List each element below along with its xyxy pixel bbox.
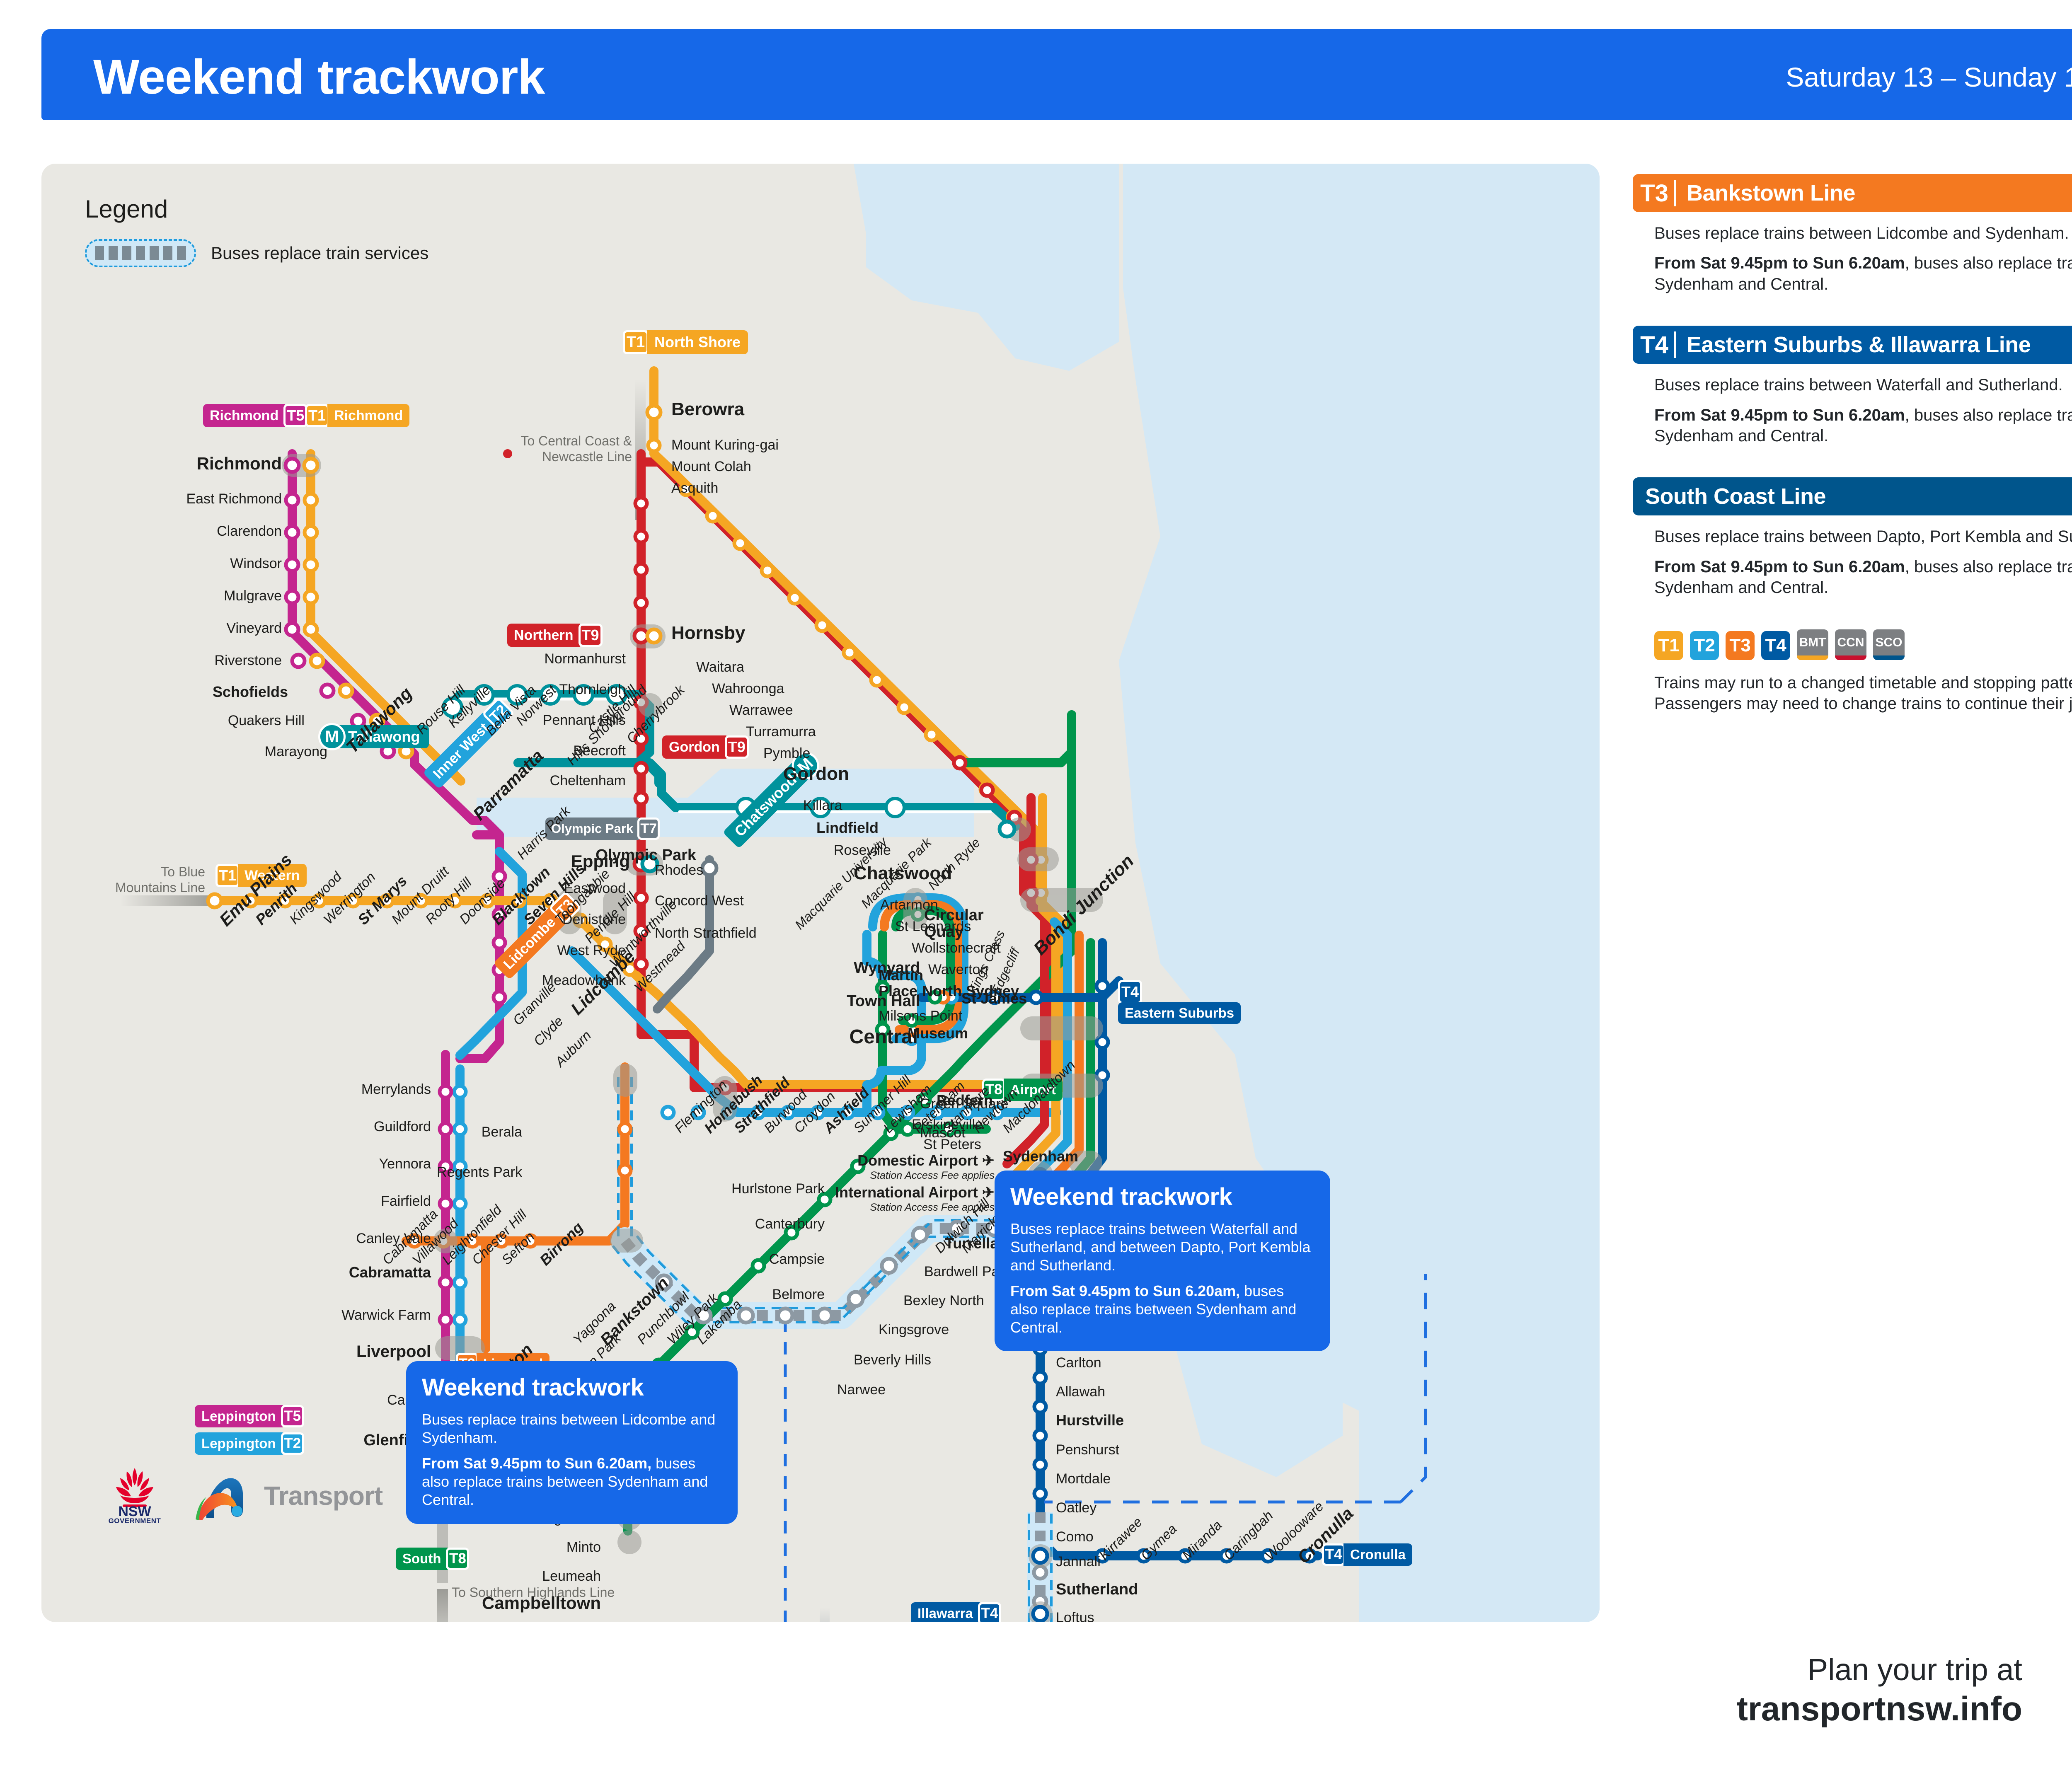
affected-lines-badges: T1 T2 T3 T4 BMT CCN SCO (1654, 629, 2072, 660)
route-label-t5-leppington[interactable]: Leppington T5 (195, 1405, 304, 1427)
station-label-east-richmond: East Richmond (141, 491, 282, 507)
station-label-campbelltown: Campbelltown (332, 1593, 601, 1613)
station-label-berowra: Berowra (671, 399, 744, 420)
legend-title: Legend (85, 195, 428, 223)
station-label-campsie: Campsie (700, 1251, 825, 1267)
badge-t5: T5 (281, 1405, 304, 1427)
badge-sco: SCO (1873, 629, 1905, 660)
annotation-domestic-fee: Station Access Fee applies (821, 1170, 995, 1182)
badge-t3: T3 (1633, 174, 1676, 212)
station-label-wahroonga: Wahroonga (712, 681, 784, 697)
station-label-warrawee: Warrawee (729, 702, 793, 718)
callout-para-2: From Sat 9.45pm to Sun 6.20am, buses als… (422, 1454, 722, 1509)
line-para-2: From Sat 9.45pm to Sun 6.20am, buses als… (1654, 253, 2072, 295)
legend: Legend Buses replace train services (85, 195, 428, 267)
station-label-martin-place: Martin Place (879, 967, 941, 999)
page-header: Weekend trackwork Saturday 13 – Sunday 1… (41, 29, 2072, 120)
badge-ccn: CCN (1835, 629, 1866, 660)
station-label-pymble: Pymble (763, 745, 810, 762)
badge-t9: T9 (725, 735, 749, 759)
station-label-hornsby: Hornsby (671, 623, 745, 643)
annotation-to-central-coast: To Central Coast & Newcastle Line (495, 433, 632, 465)
station-label-international-airport: International Airport ✈ (800, 1184, 995, 1201)
route-label-t9-northern[interactable]: Northern T9 (507, 624, 603, 647)
line-header-south-coast: South Coast Line (1633, 477, 2072, 515)
station-label-west-ryde: West Ryde (489, 943, 626, 959)
badge-t1: T1 (215, 864, 240, 887)
station-label-como: Como (1056, 1529, 1094, 1545)
badge-t1: T1 (1654, 631, 1683, 660)
badge-t1: T1 (305, 404, 329, 427)
badge-t2: T2 (1690, 631, 1719, 660)
bus-replacement-swatch (85, 239, 196, 267)
station-label-pennant-hills: Pennant Hills (489, 712, 626, 728)
station-label-asquith: Asquith (671, 480, 718, 496)
station-label-belmore: Belmore (700, 1287, 825, 1303)
station-label-beecroft: Beecroft (489, 743, 626, 759)
station-label-bexley-north: Bexley North (903, 1293, 984, 1309)
line-name: Eastern Suburbs & Illawarra Line (1676, 326, 2072, 364)
badge-t1: T1 (623, 330, 649, 354)
route-label-t1-north-shore[interactable]: T1 North Shore (623, 330, 748, 354)
line-block-south-coast: South Coast Line Buses replace trains be… (1633, 477, 2072, 598)
callout-para-1: Buses replace trains between Waterfall a… (1010, 1220, 1314, 1275)
station-label-central: Central (762, 1025, 918, 1048)
transport-wordmark: Transport (264, 1480, 382, 1511)
logo-group: NSW GOVERNMENT (104, 1465, 382, 1527)
route-label-text: Gordon (662, 735, 726, 759)
line-header-bankstown: T3 Bankstown Line (1633, 174, 2072, 212)
station-label-lindfield: Lindfield (816, 819, 879, 837)
badge-t4: T4 (1118, 980, 1142, 1004)
station-label-marayong: Marayong (141, 744, 327, 760)
badge-t5: T5 (283, 404, 307, 427)
waratah-icon (116, 1468, 153, 1507)
badge-t3: T3 (1726, 631, 1755, 660)
station-label-killara: Killara (803, 798, 842, 814)
station-label-cabramatta: Cabramatta (290, 1264, 431, 1281)
badge-t7: T7 (637, 817, 660, 840)
route-label-text: Richmond (203, 404, 285, 427)
line-para-1: Buses replace trains between Waterfall a… (1654, 375, 2072, 395)
station-label-canterbury: Canterbury (680, 1216, 825, 1232)
callout-para-1: Buses replace trains between Lidcombe an… (422, 1410, 722, 1447)
station-label-mulgrave: Mulgrave (141, 588, 282, 604)
station-label-milsons-point: Milsons Point (879, 1008, 962, 1024)
route-label-text: Cronulla (1343, 1543, 1412, 1566)
route-label-t4-eastern-suburbs[interactable]: T4 Eastern Suburbs (1118, 980, 1241, 1024)
station-label-waitara: Waitara (696, 659, 744, 675)
station-label-loftus: Loftus (1056, 1610, 1094, 1622)
station-label-gymea: Gymea (1138, 1521, 1180, 1563)
station-label-olympic-park: Olympic Park (572, 847, 696, 864)
route-label-t9-gordon[interactable]: Gordon T9 (662, 735, 749, 759)
station-label-quakers-hill: Quakers Hill (141, 713, 305, 729)
station-label-rhodes: Rhodes (655, 862, 703, 878)
station-label-turrella: Turrella (945, 1235, 998, 1252)
route-label-text: Leppington (195, 1432, 283, 1455)
station-label-allawah: Allawah (1056, 1384, 1105, 1400)
route-label-t5-richmond[interactable]: Richmond T5 (203, 404, 307, 427)
station-label-riverstone: Riverstone (141, 653, 282, 669)
station-label-hurstville: Hurstville (1056, 1412, 1124, 1429)
page-title: Weekend trackwork (93, 49, 545, 105)
line-para-1: Buses replace trains between Lidcombe an… (1654, 223, 2072, 244)
station-label-turramurra: Turramurra (746, 724, 816, 740)
legend-bus-label: Buses replace train services (211, 243, 428, 263)
route-label-text: Richmond (327, 404, 409, 427)
station-label-auburn: Auburn (552, 1028, 594, 1070)
station-label-regents-park: Regents Park (390, 1164, 522, 1180)
date-range: Saturday 13 – Sunday 14 July (1786, 61, 2072, 93)
station-label-beverly-hills: Beverly Hills (854, 1352, 931, 1368)
station-label-carlton: Carlton (1056, 1355, 1101, 1371)
station-label-normanhurst: Normanhurst (489, 651, 626, 667)
station-label-oatley: Oatley (1056, 1500, 1097, 1516)
line-header-eastern-suburbs: T4 Eastern Suburbs & Illawarra Line (1633, 326, 2072, 364)
plan-trip-label: Plan your trip at (1737, 1652, 2022, 1687)
annotation-to-blue-mountains: To Blue Mountains Line (102, 864, 205, 896)
callout-title: Weekend trackwork (1010, 1183, 1314, 1211)
station-label-kirrawee: Kirrawee (1096, 1514, 1145, 1563)
line-para-2: From Sat 9.45pm to Sun 6.20am, buses als… (1654, 556, 2072, 598)
route-label-text: North Shore (647, 330, 748, 354)
station-label-mount-colah: Mount Colah (671, 459, 751, 475)
station-label-windsor: Windsor (141, 556, 282, 572)
station-label-chatswood: Chatswood (854, 863, 952, 884)
station-label-kingsgrove: Kingsgrove (879, 1322, 949, 1338)
station-label-schofields: Schofields (141, 683, 288, 701)
station-label-green-square: Green Square (920, 1096, 1009, 1112)
station-label-jannali: Jannali (1056, 1554, 1101, 1570)
station-label-clarendon: Clarendon (141, 523, 282, 539)
badge-t4: T4 (978, 1602, 1001, 1622)
station-label-bondi-junction: Bondi Junction (1030, 851, 1138, 959)
station-label-clyde: Clyde (530, 1013, 566, 1049)
line-para-1: Buses replace trains between Dapto, Port… (1654, 526, 2072, 547)
map-callout-bankstown: Weekend trackwork Buses replace trains b… (406, 1361, 738, 1524)
station-label-museum: Museum (908, 1025, 968, 1042)
station-label-mount-kuring-gai: Mount Kuring-gai (671, 437, 779, 453)
route-label-t4-illawarra[interactable]: Illawarra T4 (911, 1602, 1001, 1622)
badge-t4: T4 (1633, 326, 1676, 364)
station-label-penshurst: Penshurst (1056, 1442, 1119, 1458)
station-label-mascot: Mascot (920, 1125, 966, 1141)
station-label-richmond: Richmond (141, 454, 282, 474)
transport-nsw-logo: Transport (190, 1468, 382, 1524)
network-map[interactable]: Legend Buses replace train services T1 N… (41, 164, 1600, 1622)
trackwork-info-panel: T3 Bankstown Line Buses replace trains b… (1633, 174, 2072, 714)
line-para-2: From Sat 9.45pm to Sun 6.20am, buses als… (1654, 405, 2072, 447)
station-label-macarthur: Macarthur (332, 1620, 601, 1622)
station-label-fairfield: Fairfield (298, 1193, 431, 1209)
station-label-birrong: Birrong (536, 1219, 587, 1269)
transportnsw-url[interactable]: transportnsw.info (1737, 1690, 2022, 1729)
station-label-domestic-airport: Domestic Airport ✈ (821, 1152, 995, 1169)
badge-note-text: Trains may run to a changed timetable an… (1654, 672, 2072, 714)
station-label-warwick-farm: Warwick Farm (290, 1307, 431, 1323)
plane-icon: ✈ (982, 1184, 995, 1201)
plane-icon: ✈ (982, 1152, 995, 1169)
station-label-sydenham: Sydenham (1003, 1148, 1078, 1165)
callout-para-2: From Sat 9.45pm to Sun 6.20am, buses als… (1010, 1282, 1314, 1337)
station-label-merrylands: Merrylands (298, 1081, 431, 1098)
station-label-leumeah: Leumeah (373, 1568, 601, 1584)
line-block-bankstown: T3 Bankstown Line Buses replace trains b… (1633, 174, 2072, 295)
station-label-sutherland: Sutherland (1056, 1581, 1138, 1599)
badge-bmt: BMT (1797, 629, 1828, 660)
route-label-t1-richmond[interactable]: T1 Richmond (305, 404, 409, 427)
annotation-international-fee: Station Access Fee applies (800, 1202, 995, 1214)
station-label-vineyard: Vineyard (141, 620, 282, 636)
station-label-liverpool: Liverpool (282, 1342, 431, 1361)
metro-icon: M (318, 723, 346, 750)
station-label-miranda: Miranda (1179, 1517, 1225, 1563)
station-label-berala: Berala (390, 1124, 522, 1140)
station-label-roseville: Roseville (834, 842, 891, 859)
station-label-thornleigh: Thornleigh (489, 682, 626, 698)
line-block-eastern-suburbs: T4 Eastern Suburbs & Illawarra Line Buse… (1633, 326, 2072, 446)
station-label-mortdale: Mortdale (1056, 1471, 1111, 1487)
badge-t4: T4 (1761, 631, 1790, 660)
station-label-minto: Minto (373, 1539, 601, 1555)
route-label-t4-cronulla[interactable]: T4 Cronulla (1322, 1543, 1412, 1566)
nsw-government-logo: NSW GOVERNMENT (104, 1465, 166, 1527)
badge-t9: T9 (579, 624, 603, 647)
callout-title: Weekend trackwork (422, 1374, 722, 1401)
plan-your-trip[interactable]: Plan your trip at transportnsw.info (1737, 1652, 2022, 1729)
line-name: Bankstown Line (1676, 174, 2072, 212)
line-name: South Coast Line (1633, 477, 2072, 515)
government-text: GOVERNMENT (109, 1517, 161, 1525)
station-label-narwee: Narwee (837, 1382, 886, 1398)
route-label-text: Eastern Suburbs (1118, 1002, 1241, 1024)
route-label-text: Leppington (195, 1405, 283, 1427)
map-callout-illawarra: Weekend trackwork Buses replace trains b… (995, 1171, 1330, 1351)
station-label-north-strathfield: North Strathfield (655, 925, 757, 941)
route-label-text: Northern (507, 624, 580, 647)
station-label-gordon: Gordon (783, 764, 849, 784)
route-label-text: Illawarra (911, 1602, 980, 1622)
